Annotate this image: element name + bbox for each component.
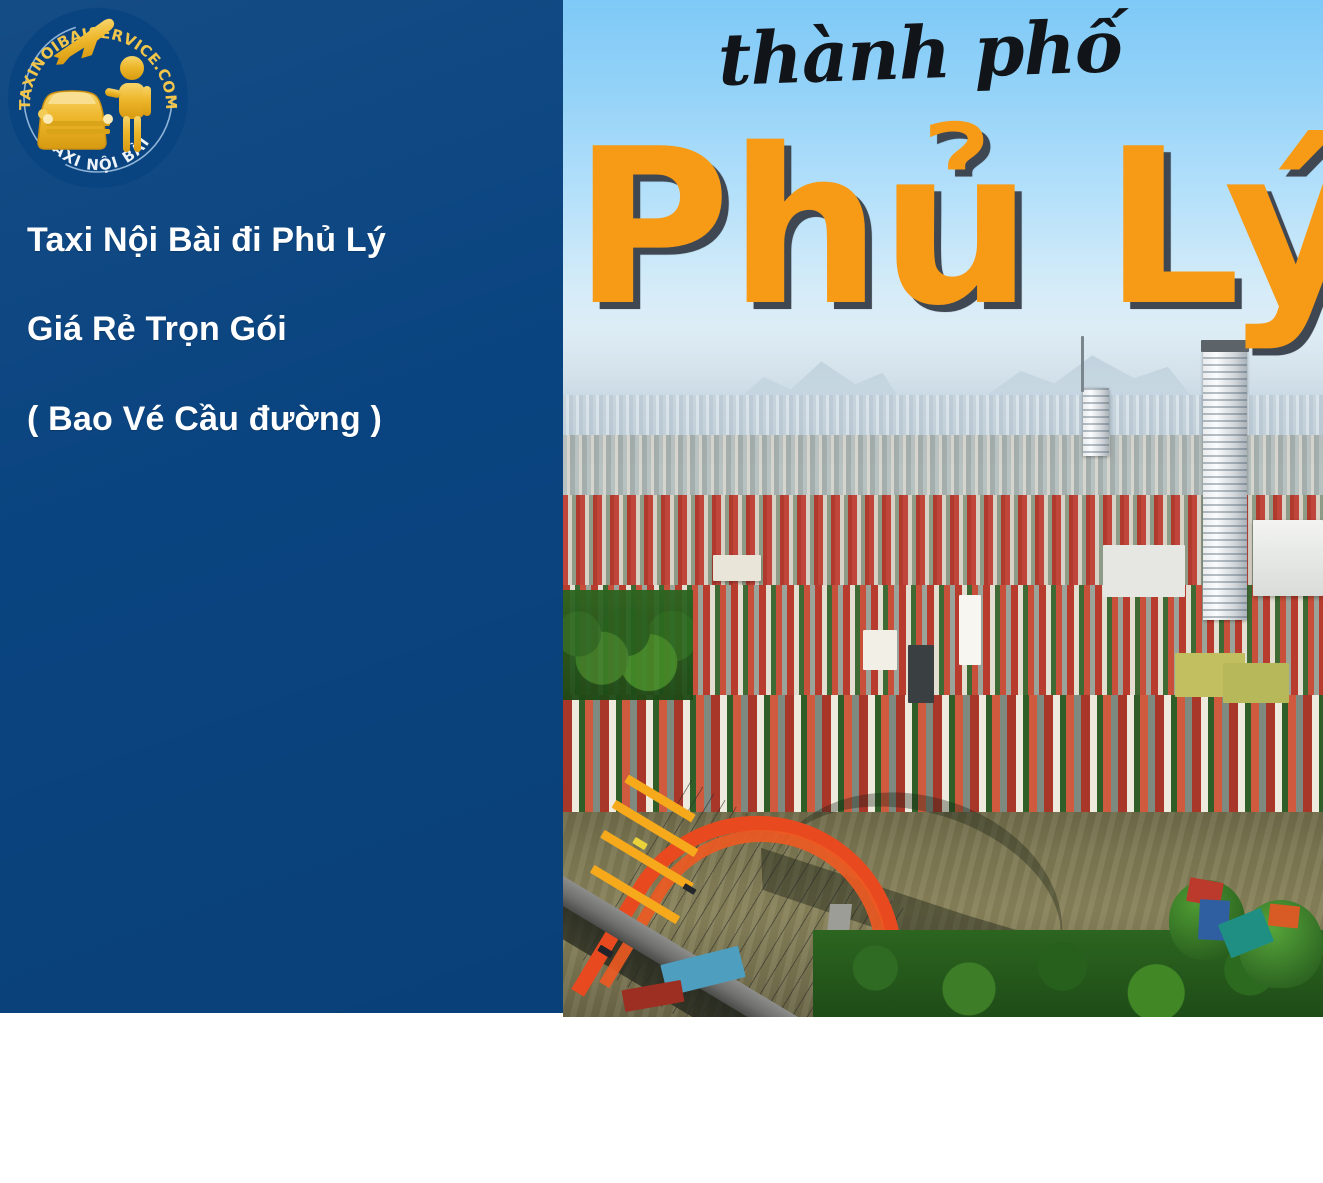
tree-belt-left: [563, 590, 693, 700]
poster-root: TAXINOIBAISERVICE.COM TAXI NỘI BÀI: [0, 0, 1323, 1183]
contact-footer: [0, 1017, 1323, 1183]
headline-line-1: Taxi Nội Bài đi Phủ Lý: [27, 222, 547, 259]
brand-logo[interactable]: TAXINOIBAISERVICE.COM TAXI NỘI BÀI: [8, 8, 188, 188]
poster-title: Phủ Lý: [573, 120, 1323, 335]
poster-photo: thành phố Phủ Lý: [563, 0, 1323, 1018]
headline-block: Taxi Nội Bài đi Phủ Lý Giá Rẻ Trọn Gói (…: [27, 222, 547, 438]
high-rise-tower: [1203, 350, 1247, 620]
headline-line-2: Giá Rẻ Trọn Gói: [27, 311, 547, 348]
poster-script-text: thành phố: [717, 3, 1123, 102]
headline-line-3: ( Bao Vé Cầu đường ): [27, 401, 547, 438]
